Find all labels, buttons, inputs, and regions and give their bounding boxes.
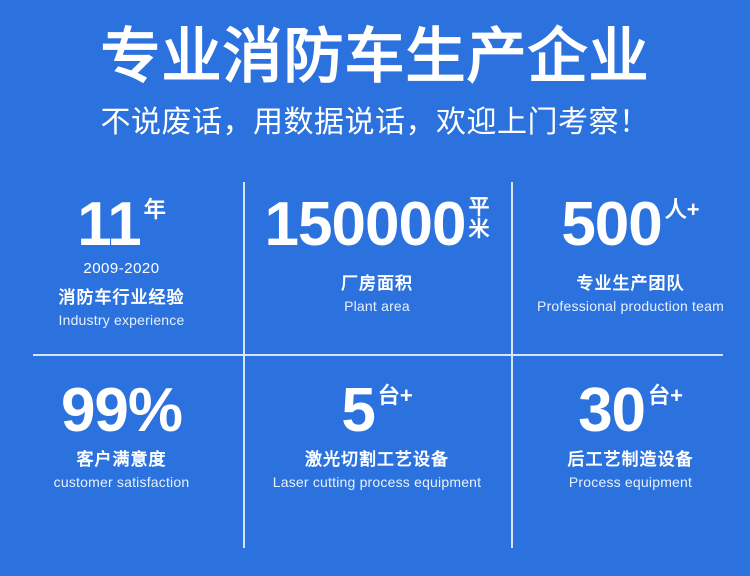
stat-number-row: 11 年	[77, 196, 166, 253]
stat-unit-plus: +	[687, 197, 700, 222]
stat-unit: 平 米	[468, 196, 489, 241]
stat-number: 5	[341, 382, 374, 439]
stat-label-cn: 客户满意度	[77, 445, 167, 470]
stat-label-en: Laser cutting process equipment	[273, 474, 482, 490]
page-subtitle: 不说废话，用数据说话，欢迎上门考察！	[0, 105, 750, 141]
stat-label-cn: 厂房面积	[341, 269, 413, 294]
stat-label-en: Process equipment	[569, 474, 692, 490]
stat-unit-text: 台	[378, 383, 400, 408]
stat-cell-industry-experience: 11 年 2009-2020 消防车行业经验 Industry experien…	[0, 182, 243, 354]
stat-unit: 人+	[665, 196, 700, 221]
stat-number-row: 150000 平 米	[265, 196, 490, 253]
stat-unit-bottom: 米	[468, 219, 489, 241]
banner-header: 专业消防车生产企业 不说废话，用数据说话，欢迎上门考察！	[0, 0, 750, 141]
stat-unit-plus: +	[670, 383, 683, 408]
stats-grid: 11 年 2009-2020 消防车行业经验 Industry experien…	[0, 182, 750, 548]
stat-unit: 台+	[378, 382, 413, 407]
stat-number: 99%	[61, 382, 182, 439]
stat-number-row: 5 台+	[341, 382, 412, 439]
stat-cell-production-team: 500 人+ 专业生产团队 Professional production te…	[511, 182, 750, 354]
stat-number: 11	[77, 196, 141, 253]
stat-number-row: 500 人+	[561, 196, 699, 253]
stat-unit-text: 台	[648, 383, 670, 408]
stat-number: 30	[578, 382, 645, 439]
stat-label-en: customer satisfaction	[54, 474, 190, 490]
stat-label-cn: 消防车行业经验	[59, 283, 185, 308]
stat-label-cn: 后工艺制造设备	[568, 445, 694, 470]
stat-number-row: 99%	[61, 382, 182, 439]
promo-banner: 专业消防车生产企业 不说废话，用数据说话，欢迎上门考察！ 11 年 2009-2…	[0, 0, 750, 576]
stat-number-row: 30 台+	[578, 382, 683, 439]
stat-unit-text: 人	[665, 197, 687, 222]
stat-cell-plant-area: 150000 平 米 厂房面积 Plant area	[243, 182, 511, 354]
stat-label-en: Industry experience	[59, 312, 185, 328]
stat-number: 500	[561, 196, 661, 253]
stat-cell-laser-cutting-equipment: 5 台+ 激光切割工艺设备 Laser cutting process equi…	[243, 354, 511, 548]
stat-cell-customer-satisfaction: 99% 客户满意度 customer satisfaction	[0, 354, 243, 548]
page-title: 专业消防车生产企业	[0, 22, 750, 91]
stat-year-range: 2009-2020	[83, 260, 159, 277]
stat-number: 150000	[265, 196, 466, 253]
stat-cell-process-equipment: 30 台+ 后工艺制造设备 Process equipment	[511, 354, 750, 548]
stat-unit-top: 平	[468, 197, 489, 219]
stat-label-en: Professional production team	[537, 298, 724, 314]
stat-label-cn: 激光切割工艺设备	[305, 445, 449, 470]
stat-unit-plus: +	[400, 383, 413, 408]
stat-unit: 年	[144, 196, 166, 221]
stat-unit: 台+	[648, 382, 683, 407]
stat-label-cn: 专业生产团队	[577, 269, 685, 294]
stat-label-en: Plant area	[344, 298, 410, 314]
